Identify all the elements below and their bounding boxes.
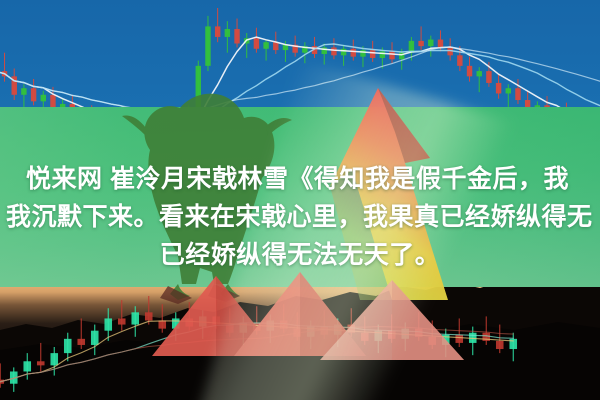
headline-line-1: 悦来网 崔泠月宋戟林雪《得知我是假千金后，我 — [0, 160, 600, 198]
headline-line-2: 我沉默下来。看来在宋戟心里，我果真已经娇纵得无 — [0, 198, 600, 236]
headline-line-3: 已经娇纵得无法无天了。 — [0, 236, 600, 274]
banner-image: 悦来网 崔泠月宋戟林雪《得知我是假千金后，我 我沉默下来。看来在宋戟心里，我果真… — [0, 0, 600, 400]
headline-text-block: 悦来网 崔泠月宋戟林雪《得知我是假千金后，我 我沉默下来。看来在宋戟心里，我果真… — [0, 160, 600, 274]
